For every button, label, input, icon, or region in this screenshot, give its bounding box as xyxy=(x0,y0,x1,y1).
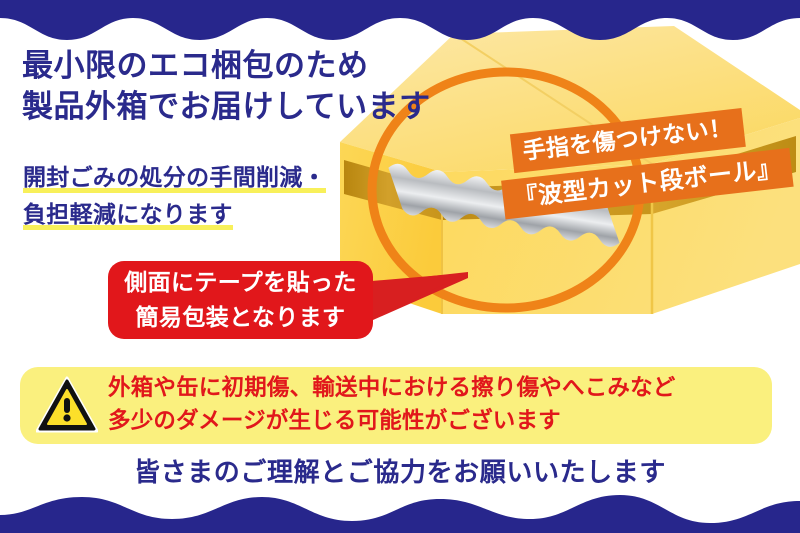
red-arrow-pointer xyxy=(360,272,470,334)
warning-text: 外箱や缶に初期傷、輸送中における擦り傷やへこみなど 多少のダメージが生じる可能性… xyxy=(108,372,676,438)
bottom-wave-decoration xyxy=(0,489,800,533)
red-callout-line-1: 側面にテープを貼った xyxy=(108,266,373,301)
subhead-line-1: 開封ごみの処分の手間削減・ xyxy=(23,165,326,193)
page-title: 最小限のエコ梱包のため 製品外箱でお届けしています xyxy=(22,46,542,128)
headline-line-2: 製品外箱でお届けしています xyxy=(22,87,542,128)
red-callout-line-2: 簡易包装となります xyxy=(108,301,373,336)
subhead-line-1-wrap: 開封ごみの処分の手間削減・ xyxy=(23,160,443,197)
subhead-line-2-wrap: 負担軽減になります xyxy=(23,197,443,234)
subheading: 開封ごみの処分の手間削減・ 負担軽減になります xyxy=(23,160,443,234)
warning-triangle-icon xyxy=(36,376,98,434)
headline-line-1: 最小限のエコ梱包のため xyxy=(22,46,542,87)
warning-line-1: 外箱や缶に初期傷、輸送中における擦り傷やへこみなど xyxy=(108,372,676,405)
warning-line-2: 多少のダメージが生じる可能性がございます xyxy=(108,405,676,438)
closing-message: 皆さまのご理解とご協力をお願いいたします xyxy=(0,452,800,489)
side-tape-callout: 側面にテープを貼った 簡易包装となります xyxy=(108,261,373,339)
warning-banner: 外箱や缶に初期傷、輸送中における擦り傷やへこみなど 多少のダメージが生じる可能性… xyxy=(20,367,772,444)
subhead-line-2: 負担軽減になります xyxy=(23,202,233,230)
packaging-notice-poster: 最小限のエコ梱包のため 製品外箱でお届けしています 開封ごみの処分の手間削減・ … xyxy=(0,0,800,533)
